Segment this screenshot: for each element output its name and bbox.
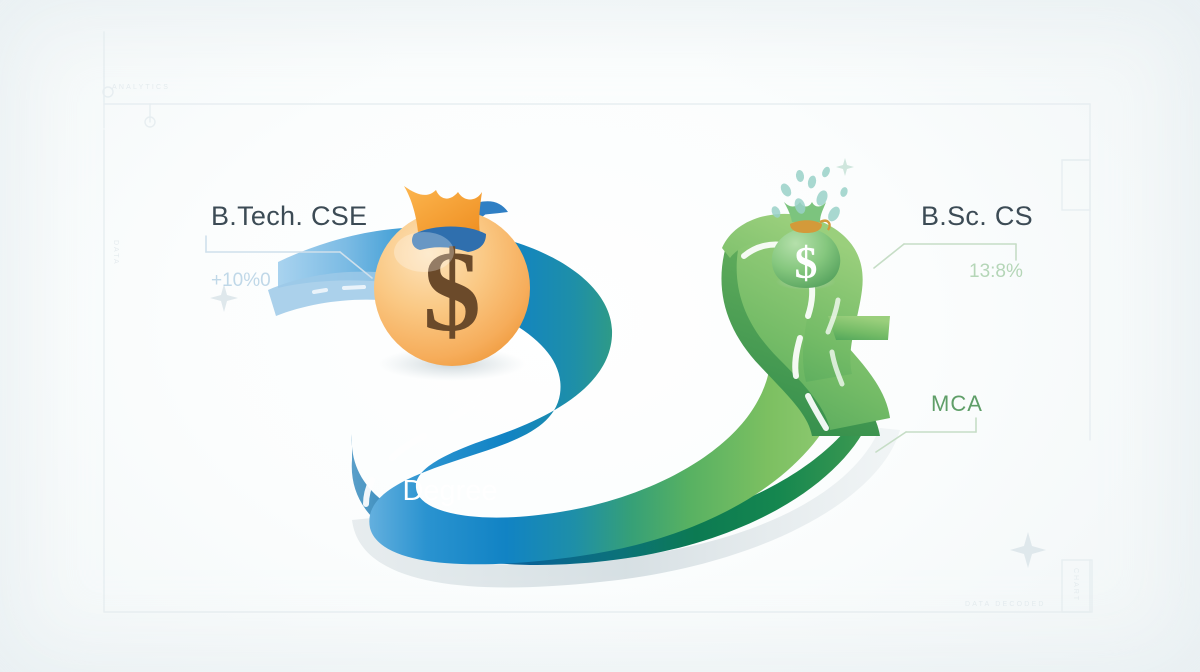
primary-money-bag: $ [374,186,530,366]
callout-mca[interactable]: MCA [931,393,983,415]
infographic-canvas: ANALYTICS DATA DATA DECODED CHART [0,0,1200,672]
callout-bsc-cs[interactable]: B.Sc. CS 13:8% [921,203,1033,281]
road-label-degree: Degree [402,475,497,507]
callout-mca-title: MCA [931,393,983,415]
callout-btech-cse-sub: +10%0 [211,271,367,290]
road-arrowhead [828,316,890,340]
callout-bsc-cs-title: B.Sc. CS [921,203,1033,230]
secondary-bag-dollar-symbol: $ [795,237,818,288]
callout-btech-cse[interactable]: B.Tech. CSE +10%0 [211,203,367,290]
bag-highlight [394,232,454,272]
callout-btech-cse-title: B.Tech. CSE [211,203,367,230]
road-illustration: $ $ [0,0,1200,672]
callout-bsc-cs-sub: 13:8% [969,262,1033,281]
